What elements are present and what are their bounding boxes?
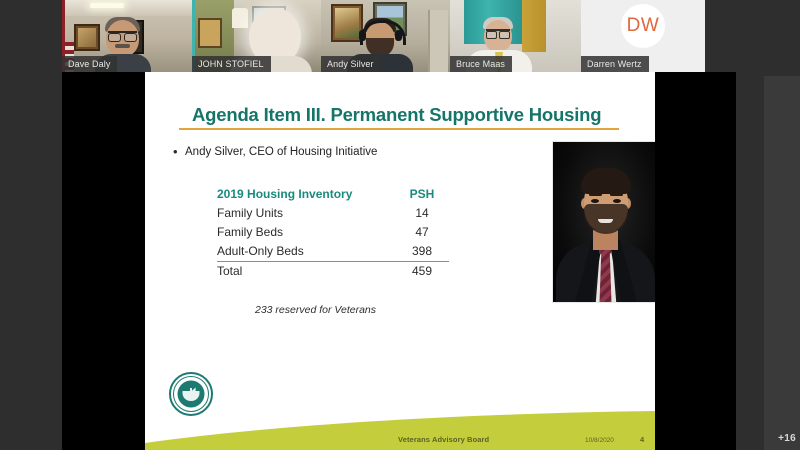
- table-cell-value: 459: [395, 263, 449, 280]
- participant-tile-dave-daly[interactable]: Dave Daly: [62, 0, 192, 72]
- slide-bullet-item: • Andy Silver, CEO of Housing Initiative: [173, 144, 503, 160]
- footer-organization: Veterans Advisory Board: [398, 435, 489, 444]
- participant-filmstrip: Dave Daly JOHN STOFIEL Andy Silver: [0, 0, 800, 72]
- slide-footer-text: Veterans Advisory Board 10/8/2020 4: [145, 430, 655, 444]
- avatar: DW: [621, 4, 665, 48]
- filmstrip-spacer-left: [0, 0, 62, 72]
- participant-name-label: JOHN STOFIEL: [192, 56, 271, 72]
- participant-tile-darren-wertz[interactable]: DW Darren Wertz: [581, 0, 705, 72]
- avatar-initials: DW: [627, 15, 660, 37]
- title-underline-rule: [179, 128, 619, 130]
- footer-date: 10/8/2020: [585, 437, 614, 444]
- participant-tile-bruce-maas[interactable]: Bruce Maas: [450, 0, 581, 72]
- slide-footnote: 233 reserved for Veterans: [255, 304, 376, 316]
- housing-inventory-table: 2019 Housing Inventory PSH Family Units …: [217, 185, 449, 281]
- zoom-meeting-window: Dave Daly JOHN STOFIEL Andy Silver: [0, 0, 800, 450]
- table-row: Family Beds 47: [217, 223, 449, 242]
- participant-tile-andy-silver[interactable]: Andy Silver: [321, 0, 450, 72]
- participant-overflow-count: +16: [778, 433, 796, 444]
- table-cell-label: Family Units: [217, 205, 283, 222]
- participant-overflow-panel[interactable]: +16: [764, 76, 800, 450]
- table-cell-label: Total: [217, 263, 242, 280]
- shared-screen-area[interactable]: Agenda Item III. Permanent Supportive Ho…: [62, 72, 736, 450]
- participant-name-label: Bruce Maas: [450, 56, 512, 72]
- presentation-slide: Agenda Item III. Permanent Supportive Ho…: [145, 72, 655, 450]
- participant-name-label: Andy Silver: [321, 56, 381, 72]
- filmstrip-spacer-right: [705, 0, 800, 72]
- table-column-header-psh: PSH: [395, 186, 449, 203]
- slide-bullet-text: Andy Silver, CEO of Housing Initiative: [185, 144, 377, 160]
- table-cell-value: 398: [395, 243, 449, 260]
- table-cell-label: Family Beds: [217, 224, 283, 241]
- table-row: Adult-Only Beds 398: [217, 242, 449, 262]
- slide-title: Agenda Item III. Permanent Supportive Ho…: [192, 104, 612, 126]
- table-header-row: 2019 Housing Inventory PSH: [217, 185, 449, 204]
- table-cell-value: 14: [395, 205, 449, 222]
- table-row: Family Units 14: [217, 204, 449, 223]
- participant-name-label: Dave Daly: [62, 56, 117, 72]
- table-column-header-inventory: 2019 Housing Inventory: [217, 186, 352, 203]
- table-cell-value: 47: [395, 224, 449, 241]
- participant-tile-john-stofiel[interactable]: JOHN STOFIEL: [192, 0, 321, 72]
- participant-name-label: Darren Wertz: [581, 56, 649, 72]
- table-cell-label: Adult-Only Beds: [217, 243, 304, 260]
- speaker-headshot-photo: [552, 141, 655, 303]
- footer-page-number: 4: [640, 435, 644, 444]
- table-row: Total 459: [217, 262, 449, 281]
- bullet-marker-icon: •: [173, 144, 185, 160]
